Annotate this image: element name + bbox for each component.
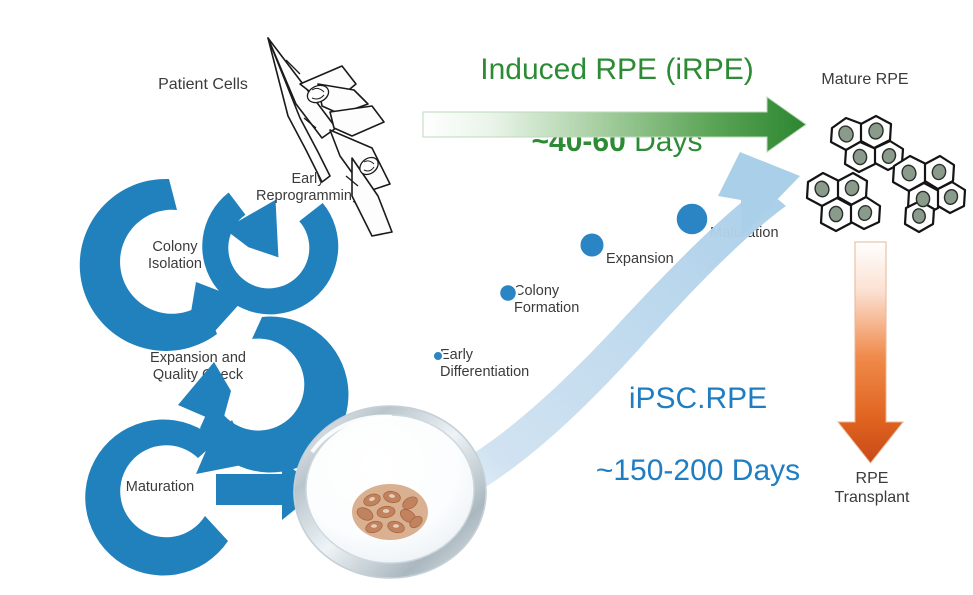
petri-dish [294, 406, 486, 578]
patient-fibroblast-cells [268, 38, 392, 236]
stage-dot-maturation [675, 202, 709, 236]
figure-canvas: Induced RPE (iRPE) ~40-60 Days iPSC.RPE … [0, 0, 973, 595]
rpe-cluster-c [807, 173, 880, 231]
ipsc-stage-dots [433, 202, 709, 361]
illustrations-layer [0, 0, 973, 595]
rpe-cluster-b [893, 156, 965, 232]
mature-rpe-cells [807, 116, 965, 232]
rpe-cluster-a [831, 116, 903, 172]
stage-dot-expansion [579, 232, 605, 258]
stage-dot-early-differentiation [433, 351, 443, 361]
ips-cell-colony [352, 484, 428, 540]
stage-dot-colony-formation [499, 284, 517, 302]
